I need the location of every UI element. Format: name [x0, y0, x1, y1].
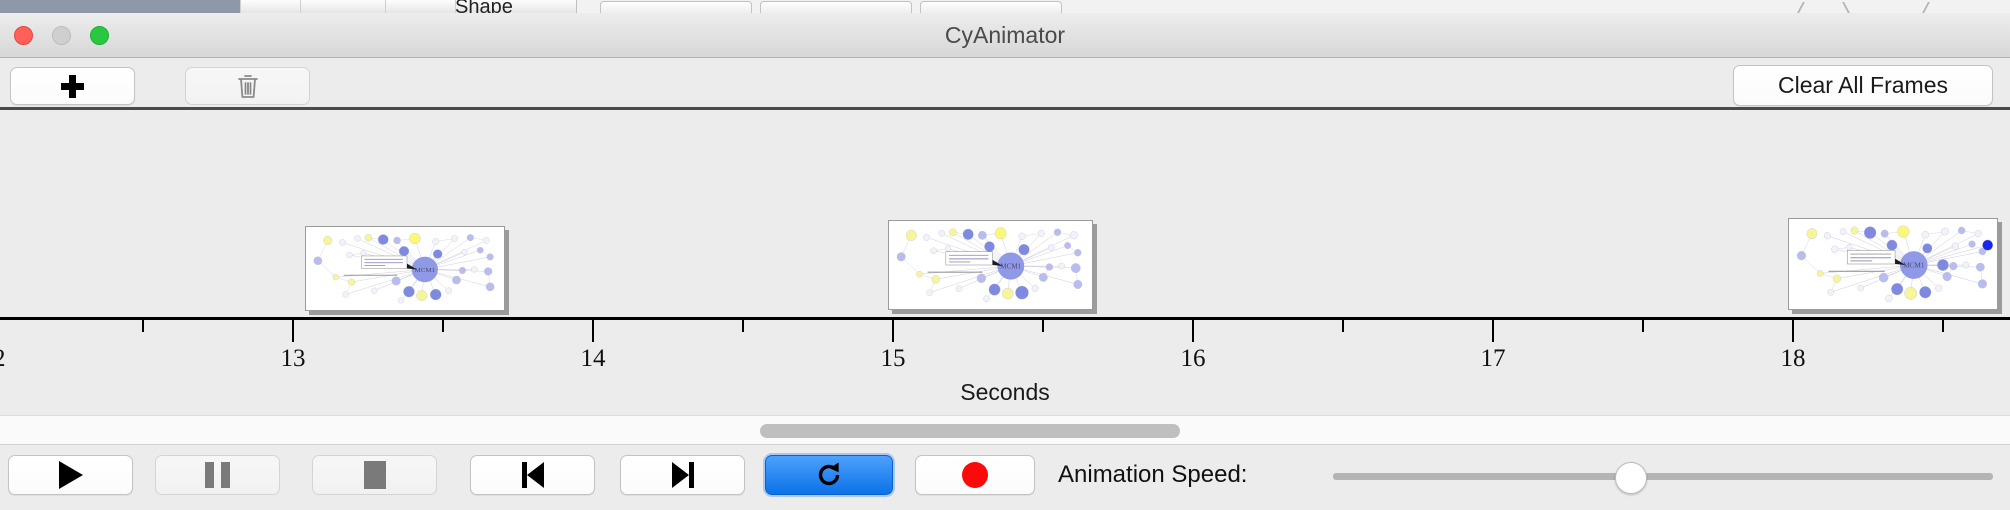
axis-title: Seconds: [0, 379, 2010, 406]
background-chunk: [385, 0, 457, 13]
axis-tick-minor: [1642, 320, 1644, 332]
timeline-axis: Seconds 12131415161718: [0, 317, 2010, 415]
cyanimator-window: Shape CyAnimator Clear All Frames MCM1MC…: [0, 0, 2010, 510]
background-toolbar-dark: [0, 0, 240, 13]
pause-button[interactable]: [155, 455, 280, 495]
axis-tick-major: [292, 320, 294, 342]
svg-text:MCM1: MCM1: [1000, 262, 1021, 270]
axis-tick-label: 18: [1752, 345, 1834, 373]
animation-speed-slider-thumb[interactable]: [1615, 462, 1647, 494]
stop-icon: [364, 461, 386, 489]
timeline-frame[interactable]: MCM1: [1788, 218, 1998, 310]
axis-tick-label: 15: [852, 345, 934, 373]
window-titlebar[interactable]: CyAnimator: [0, 13, 2010, 58]
axis-tick-minor: [442, 320, 444, 332]
delete-frame-button[interactable]: [185, 67, 310, 105]
trash-icon: [237, 73, 259, 99]
frame-preview: MCM1: [1789, 219, 1997, 309]
frame-preview: MCM1: [889, 221, 1092, 309]
axis-tick-minor: [1042, 320, 1044, 332]
axis-line: [0, 317, 2010, 320]
window-title: CyAnimator: [0, 13, 2010, 58]
axis-tick-major: [1192, 320, 1194, 342]
plus-icon: [60, 74, 85, 99]
skip-next-icon: [672, 462, 694, 488]
background-diagonal: [1842, 2, 1868, 13]
axis-tick-minor: [1942, 320, 1944, 332]
axis-tick-major: [892, 320, 894, 342]
frame-preview: MCM1: [306, 227, 504, 310]
clear-all-frames-label: Clear All Frames: [1778, 72, 1948, 99]
network-thumbnail: MCM1: [1789, 219, 1997, 309]
timeline-frame[interactable]: MCM1: [888, 220, 1093, 310]
network-thumbnail: MCM1: [306, 227, 504, 310]
record-icon: [962, 462, 988, 488]
animation-speed-label: Animation Speed:: [1058, 455, 1247, 495]
axis-tick-label: 12: [0, 345, 34, 373]
axis-tick-label: 17: [1452, 345, 1534, 373]
next-frame-button[interactable]: [620, 455, 745, 495]
animation-speed-slider[interactable]: [1333, 473, 1993, 480]
record-button[interactable]: [915, 455, 1035, 495]
axis-tick-minor: [1342, 320, 1344, 332]
axis-tick-minor: [142, 320, 144, 332]
loop-icon: [814, 460, 844, 490]
svg-text:MCM1: MCM1: [415, 267, 435, 274]
timeline-frame[interactable]: MCM1: [305, 226, 505, 311]
axis-tick-major: [592, 320, 594, 342]
timeline-scrollbar-thumb[interactable]: [760, 424, 1180, 438]
network-thumbnail: MCM1: [889, 221, 1092, 309]
pause-icon: [205, 462, 230, 488]
axis-tick-label: 14: [552, 345, 634, 373]
skip-previous-icon: [522, 462, 544, 488]
svg-text:MCM1: MCM1: [1903, 261, 1925, 270]
timeline-track[interactable]: MCM1MCM1MCM1: [0, 113, 2010, 317]
add-frame-button[interactable]: [10, 67, 135, 105]
frame-toolbar: Clear All Frames: [0, 58, 2010, 110]
background-chunk: [300, 0, 387, 13]
axis-tick-label: 13: [252, 345, 334, 373]
stop-button[interactable]: [312, 455, 437, 495]
playback-controls: Animation Speed:: [0, 446, 2010, 510]
axis-tick-major: [1492, 320, 1494, 342]
play-button[interactable]: [8, 455, 133, 495]
background-diagonal: [1797, 2, 1823, 13]
background-app-strip: Shape: [0, 0, 2010, 14]
play-icon: [59, 461, 83, 489]
axis-tick-label: 16: [1152, 345, 1234, 373]
background-diagonal: [1922, 2, 1948, 13]
timeline-scrollbar[interactable]: [0, 415, 2010, 445]
background-chunk: [240, 0, 302, 13]
background-shape-label: Shape: [455, 0, 513, 14]
previous-frame-button[interactable]: [470, 455, 595, 495]
axis-tick-major: [1792, 320, 1794, 342]
loop-button[interactable]: [765, 455, 893, 495]
axis-tick-minor: [742, 320, 744, 332]
clear-all-frames-button[interactable]: Clear All Frames: [1733, 65, 1993, 106]
